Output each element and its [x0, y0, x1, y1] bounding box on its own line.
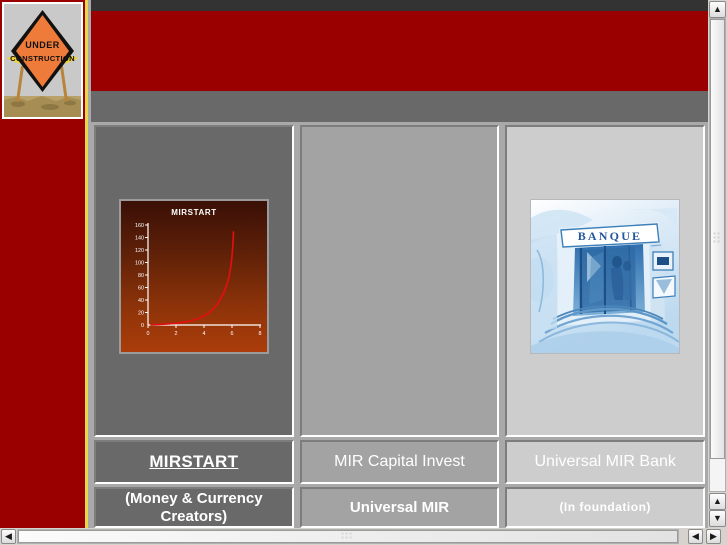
column-subtitle-universal-mir-bank: (In foundation) — [505, 487, 705, 528]
triangle-up-icon: ▲ — [713, 5, 722, 14]
horizontal-scroll-track[interactable] — [17, 529, 679, 544]
svg-text:40: 40 — [138, 298, 144, 304]
column-title-mirstart: MIRSTART — [94, 440, 294, 485]
column-mir-capital-invest: MIR Capital Invest Universal MIR — [297, 122, 503, 528]
scroll-next-button[interactable]: ▶ — [706, 529, 721, 544]
bank-watercolor-svg: BANQUE — [531, 200, 679, 353]
column-media-panel — [300, 125, 500, 437]
vertical-scroll-thumb[interactable] — [710, 19, 725, 459]
under-construction-sign-icon: UNDER CONSTRUCTION — [2, 2, 83, 119]
column-title-mir-capital-invest[interactable]: MIR Capital Invest — [300, 440, 500, 485]
scroll-down-button[interactable]: ▼ — [709, 510, 726, 527]
horizontal-scroll-thumb[interactable] — [18, 530, 678, 543]
svg-text:140: 140 — [135, 236, 144, 242]
triangle-up-icon: ▲ — [713, 497, 722, 506]
grip-dots-icon — [713, 233, 722, 246]
column-media-panel: MIRSTART 160 140 120 — [94, 125, 294, 437]
svg-text:20: 20 — [138, 311, 144, 317]
svg-text:6: 6 — [230, 331, 233, 337]
mirstart-link[interactable]: MIRSTART — [149, 452, 238, 472]
mirstart-chart-thumbnail[interactable]: MIRSTART 160 140 120 — [119, 199, 269, 354]
triangle-right-icon: ▶ — [710, 532, 717, 541]
svg-text:100: 100 — [135, 261, 144, 267]
scroll-up-button[interactable]: ▲ — [709, 1, 726, 18]
horizontal-scrollbar[interactable]: ◀ ◀ ▶ — [0, 528, 727, 545]
svg-text:0: 0 — [141, 323, 144, 329]
svg-text:2: 2 — [174, 331, 177, 337]
header-gray-subbar — [91, 91, 708, 122]
svg-text:8: 8 — [258, 331, 261, 337]
svg-text:160: 160 — [135, 223, 144, 229]
triangle-left-icon: ◀ — [5, 532, 12, 541]
bank-entrance-illustration[interactable]: BANQUE — [530, 199, 680, 354]
header-red-banner — [91, 11, 708, 91]
scroll-up-secondary-button[interactable]: ▲ — [709, 493, 726, 510]
column-title-universal-mir-bank[interactable]: Universal MIR Bank — [505, 440, 705, 485]
page-viewport: UNDER CONSTRUCTION — [0, 0, 708, 528]
svg-text:120: 120 — [135, 248, 144, 254]
under-construction-graphic: UNDER CONSTRUCTION — [4, 4, 81, 117]
svg-text:CONSTRUCTION: CONSTRUCTION — [10, 54, 75, 63]
svg-text:80: 80 — [138, 273, 144, 279]
content-columns: MIRSTART 160 140 120 — [91, 122, 708, 528]
svg-text:MIRSTART: MIRSTART — [171, 208, 217, 217]
vertical-scroll-track[interactable] — [709, 18, 726, 492]
svg-text:UNDER: UNDER — [25, 40, 60, 50]
growth-chart-svg: MIRSTART 160 140 120 — [121, 201, 267, 352]
column-subtitle-mir-capital-invest: Universal MIR — [300, 487, 500, 528]
header-topbar — [91, 0, 708, 11]
scroll-left-button[interactable]: ◀ — [1, 529, 16, 544]
left-sidebar: UNDER CONSTRUCTION — [0, 0, 88, 528]
column-media-panel: BANQUE — [505, 125, 705, 437]
triangle-down-icon: ▼ — [713, 514, 722, 523]
svg-text:0: 0 — [146, 331, 149, 337]
column-universal-mir-bank: BANQUE — [502, 122, 708, 528]
scroll-prev-button[interactable]: ◀ — [688, 529, 703, 544]
svg-text:4: 4 — [202, 331, 205, 337]
column-subtitle-mirstart: (Money & Currency Creators) — [94, 487, 294, 528]
grip-dots-icon — [342, 532, 355, 541]
bank-sign-text: BANQUE — [578, 229, 643, 243]
column-mirstart: MIRSTART 160 140 120 — [91, 122, 297, 528]
page-header — [91, 0, 708, 122]
svg-text:60: 60 — [138, 286, 144, 292]
vertical-scrollbar[interactable]: ▲ ▲ ▼ — [708, 0, 727, 528]
triangle-left-icon: ◀ — [692, 532, 699, 541]
browser-window: UNDER CONSTRUCTION — [0, 0, 727, 545]
